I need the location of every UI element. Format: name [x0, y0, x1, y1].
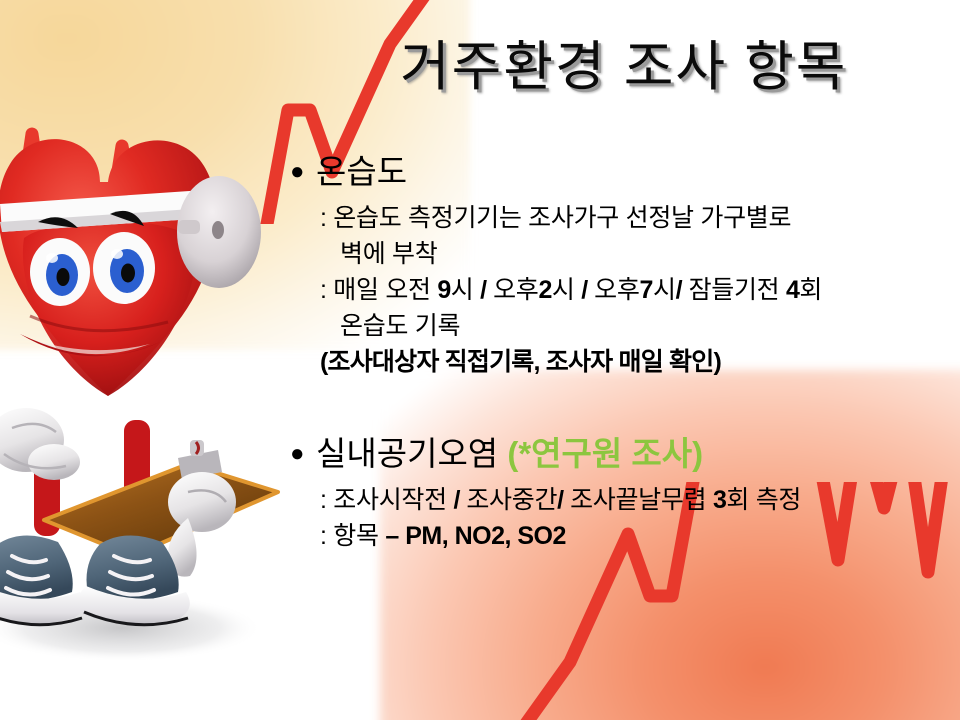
s212: / — [453, 486, 466, 514]
s213: 조사중간 — [466, 486, 557, 514]
s221: : 항목 — [320, 522, 385, 550]
s214: / — [557, 486, 570, 514]
s1314: 4 — [786, 276, 799, 304]
teeth — [34, 340, 150, 354]
bullet-marker-icon-2: ● — [286, 432, 316, 476]
s1312: / — [676, 276, 689, 304]
s215: 조사끝날무렵 — [570, 486, 713, 514]
head-mirror-icon — [177, 176, 261, 288]
eye-right — [93, 232, 155, 304]
shoe-right — [79, 535, 190, 624]
s135: 오후 — [493, 276, 538, 304]
sub-line-2-1: : 조사시작전 / 조사중간/ 조사끝날무렵 3회 측정 — [320, 482, 946, 518]
heart-body — [0, 139, 217, 396]
slide-title: 거주환경 조사 항목 — [400, 40, 940, 94]
eyebrow-left — [38, 217, 78, 228]
s138: / — [581, 276, 594, 304]
glove-left — [0, 408, 80, 480]
s136: 2 — [538, 276, 551, 304]
slide-body: ● 온습도 : 온습도 측정기기는 조사가구 선정날 가구별로 벽에 부착 : … — [286, 150, 946, 554]
section-gap — [286, 380, 946, 432]
bullet-item-indoor-air-pollution: ● 실내공기오염 (*연구원 조사) — [286, 432, 946, 476]
s1313: 잠들기전 — [689, 276, 786, 304]
s134: / — [480, 276, 493, 304]
heart-character-with-clipboard — [0, 120, 312, 720]
s1315: 회 — [799, 276, 822, 304]
bullet-heading-2: 실내공기오염 (*연구원 조사) — [316, 432, 703, 476]
sub-block-2: : 조사시작전 / 조사중간/ 조사끝날무렵 3회 측정 : 항목 – PM, … — [320, 482, 946, 554]
sub-line-1-3: : 매일 오전 9시 / 오후2시 / 오후7시/ 잠들기전 4회 — [320, 272, 946, 308]
s1311: 시 — [653, 276, 676, 304]
s131: : 매일 오전 — [320, 276, 437, 304]
mascot-ground-shadow — [0, 594, 262, 662]
sub-line-1-4: 온습도 기록 — [320, 308, 946, 344]
s222: – PM, NO2, SO2 — [385, 522, 566, 550]
bullet-heading-2-main: 실내공기오염 — [316, 435, 507, 472]
bullet-item-temperature-humidity: ● 온습도 — [286, 150, 946, 194]
s211: : 조사시작전 — [320, 486, 453, 514]
s132: 9 — [437, 276, 450, 304]
sub-block-1: : 온습도 측정기기는 조사가구 선정날 가구별로 벽에 부착 : 매일 오전 … — [320, 200, 946, 380]
bullet-heading-1: 온습도 — [316, 150, 407, 194]
eyebrow-right — [110, 211, 144, 226]
eye-left — [30, 238, 90, 306]
shoe-left — [0, 535, 84, 624]
s137: 시 — [552, 276, 581, 304]
headband — [0, 190, 208, 232]
s1310: 7 — [640, 276, 653, 304]
sub-line-1-2: 벽에 부착 — [320, 236, 946, 272]
sub-line-1-1: : 온습도 측정기기는 조사가구 선정날 가구별로 — [320, 200, 946, 236]
bullet-heading-2-accent: (*연구원 조사) — [507, 435, 703, 472]
sub-line-1-5: (조사대상자 직접기록, 조사자 매일 확인) — [320, 344, 946, 380]
glove-right-pointing — [168, 472, 236, 577]
s216: 3 — [713, 486, 726, 514]
bullet-marker-icon: ● — [286, 150, 316, 194]
s133: 시 — [451, 276, 480, 304]
sub-line-2-2: : 항목 – PM, NO2, SO2 — [320, 518, 946, 554]
s139: 오후 — [594, 276, 639, 304]
clipboard — [44, 440, 278, 556]
s217: 회 측정 — [726, 486, 801, 514]
mouth — [20, 334, 160, 356]
presentation-slide: 거주환경 조사 항목 ● 온습도 : 온습도 측정기기는 조사가구 선정날 가구… — [0, 0, 960, 720]
